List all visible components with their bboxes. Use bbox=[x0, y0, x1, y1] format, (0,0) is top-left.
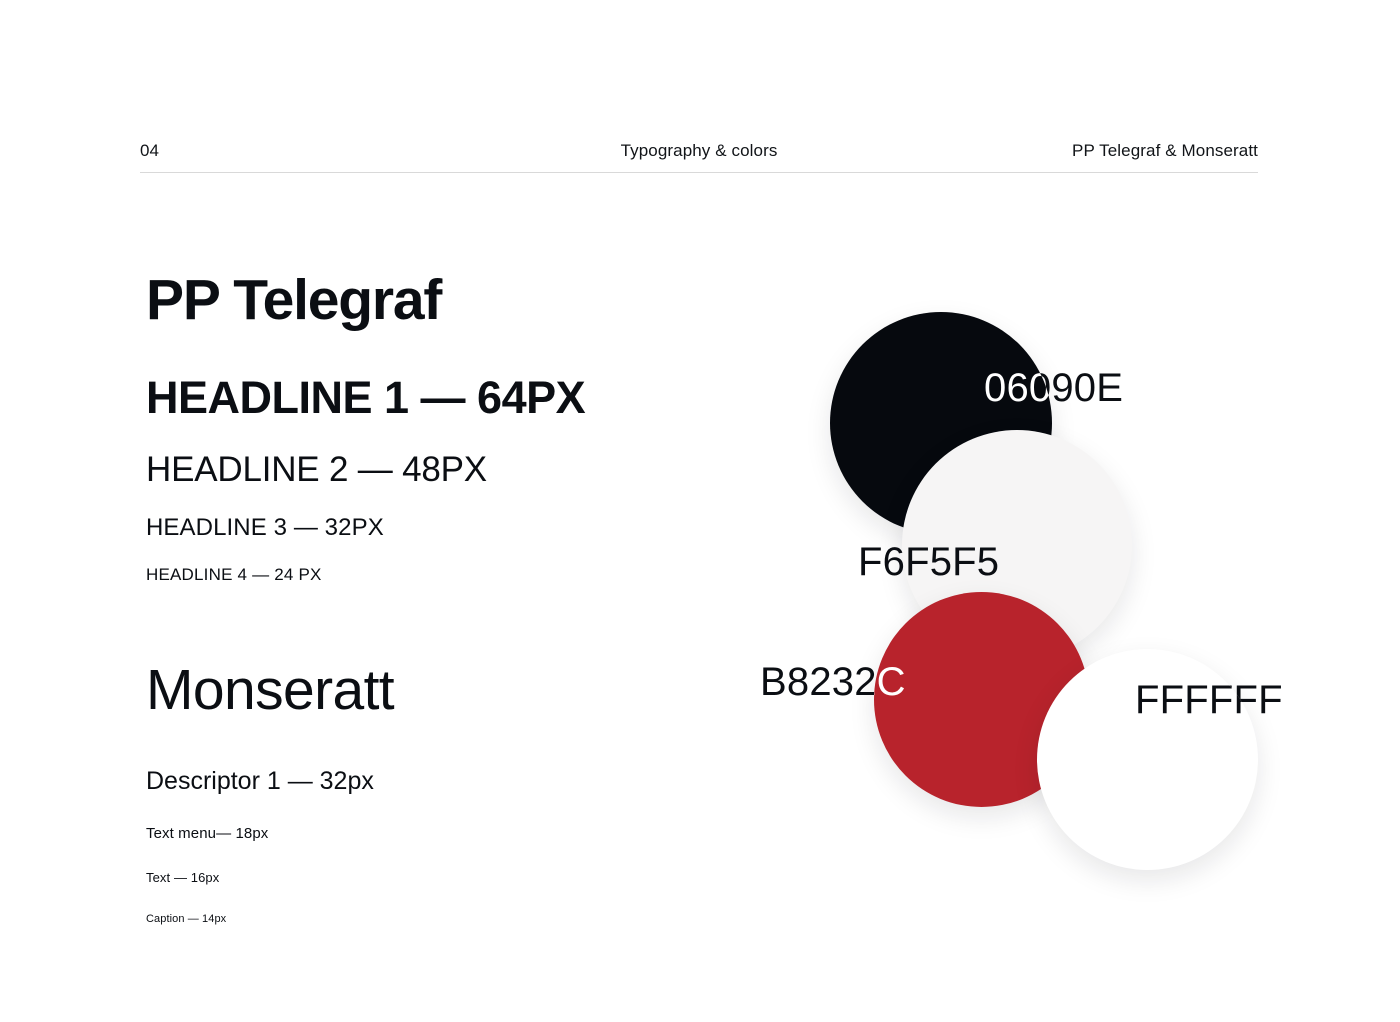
color-palette: 06090E F6F5F5 B8232C FFFFFF 06090E F6F5F… bbox=[700, 280, 1340, 920]
swatch-label-dark: 06090E bbox=[984, 368, 1052, 408]
specimen-headline-1: HEADLINE 1 — 64PX bbox=[146, 375, 766, 420]
section-title: Typography & colors bbox=[621, 141, 778, 161]
specimen-text-menu: Text menu— 18px bbox=[146, 826, 646, 841]
specimen-headline-3: HEADLINE 3 — 32PX bbox=[146, 516, 766, 540]
brand-guidelines-page: 04 Typography & colors PP Telegraf & Mon… bbox=[0, 0, 1400, 1022]
swatch-label-grey: F6F5F5 bbox=[902, 542, 999, 582]
font-family-name-secondary: Monseratt bbox=[146, 662, 394, 719]
swatch-label-white: FFFFFF bbox=[1135, 680, 1258, 720]
specimen-descriptor-1: Descriptor 1 — 32px bbox=[146, 769, 646, 794]
page-number: 04 bbox=[140, 141, 159, 161]
swatch-label-red: B8232C bbox=[874, 662, 906, 702]
fonts-note: PP Telegraf & Monseratt bbox=[1072, 141, 1258, 161]
font-family-name-primary: PP Telegraf bbox=[146, 272, 766, 329]
specimen-caption: Caption — 14px bbox=[146, 914, 646, 925]
typography-primary-block: PP Telegraf HEADLINE 1 — 64PX HEADLINE 2… bbox=[146, 272, 766, 583]
specimen-headline-4: HEADLINE 4 — 24 PX bbox=[146, 566, 766, 583]
specimen-text-body: Text — 16px bbox=[146, 871, 646, 884]
specimen-headline-2: HEADLINE 2 — 48PX bbox=[146, 452, 766, 487]
page-header: 04 Typography & colors PP Telegraf & Mon… bbox=[140, 141, 1258, 173]
swatch-label-clip-white: FFFFFF bbox=[1037, 649, 1258, 870]
typography-secondary-block: Descriptor 1 — 32px Text menu— 18px Text… bbox=[146, 769, 646, 925]
